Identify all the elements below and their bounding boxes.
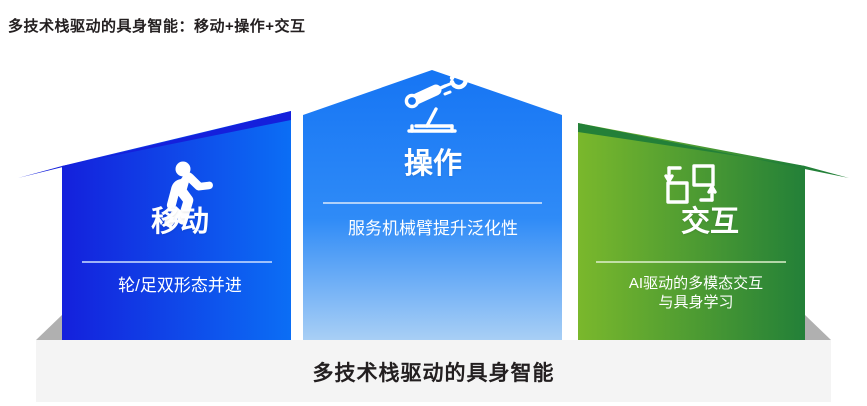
house-diagram-graphic <box>0 0 867 406</box>
shadow-triangle-right <box>805 315 831 340</box>
panel-interaction-title: 交互 <box>620 208 800 237</box>
foundation-label: 多技术栈驱动的具身智能 <box>0 357 867 387</box>
panel-interaction-subtitle: AI驱动的多模态交互 与具身学习 <box>586 275 806 313</box>
panel-mobility-subtitle: 轮/足双形态并进 <box>70 275 290 296</box>
diagram-canvas: 多技术栈驱动的具身智能：移动+操作+交互 <box>0 0 867 406</box>
panel-manipulation-shape <box>303 70 562 340</box>
panel-interaction-subtitle-line2: 与具身学习 <box>586 294 806 313</box>
panel-manipulation-title: 操作 <box>343 150 523 179</box>
panel-mobility-title: 移动 <box>90 208 270 237</box>
shadow-triangle-left <box>36 315 62 340</box>
panel-interaction-subtitle-line1: AI驱动的多模态交互 <box>586 275 806 294</box>
panel-manipulation-subtitle: 服务机械臂提升泛化性 <box>307 218 559 239</box>
panel-manipulation[interactable] <box>303 70 562 340</box>
